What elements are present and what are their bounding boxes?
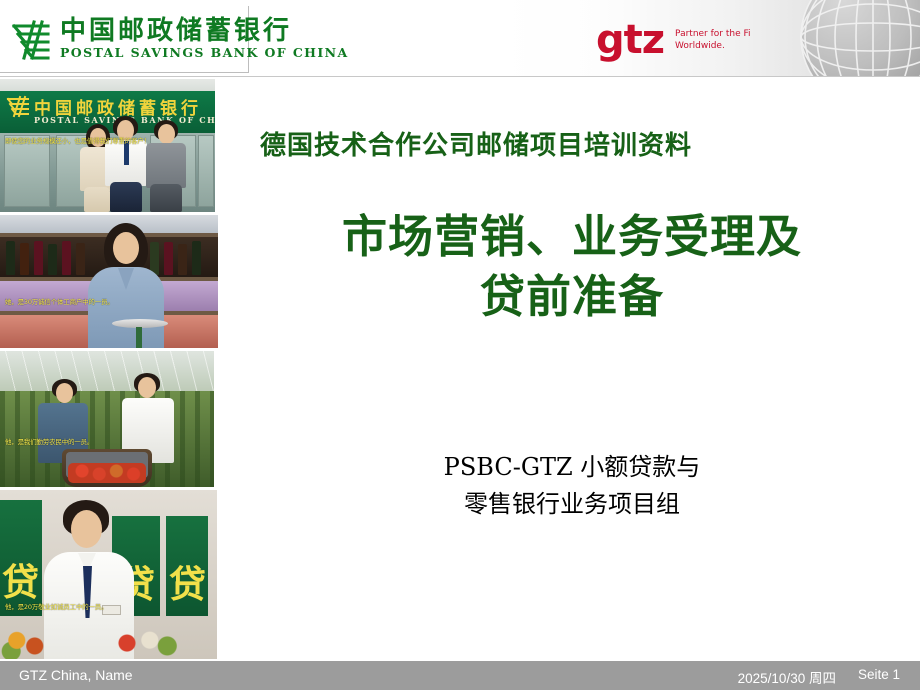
footer-meta: 2025/10/30 周四 Seite 1	[738, 667, 900, 687]
photo2-caption: 她，是30万诚信个体工商户中的一员。	[5, 298, 206, 306]
footer-date: 2025/10/30 周四	[738, 667, 836, 687]
photo1-door	[198, 135, 214, 207]
photo4-banner-char: 贷	[169, 554, 206, 608]
psbc-logo: 中国邮政储蓄银行 POSTAL SAVINGS BANK OF CHINA	[0, 6, 249, 73]
gtz-wordmark: gtz	[596, 22, 664, 58]
gtz-logo: gtz Partner for the Fi Worldwide.	[596, 22, 751, 58]
psbc-chinese-name: 中国邮政储蓄银行	[60, 18, 349, 44]
slide-title-line-1: 市场营销、业务受理及	[252, 207, 892, 267]
slide-title-line-2: 贷前准备	[252, 267, 892, 327]
photo3-tomatoes	[68, 463, 146, 483]
photo4-flowers-left	[0, 628, 56, 659]
slide-content: 德国技术合作公司邮储项目培训资料 市场营销、业务受理及 贷前准备 PSBC-GT…	[222, 79, 920, 659]
gtz-tagline: Partner for the Fi Worldwide.	[675, 28, 750, 52]
photo1-caption: 即使您的业务规模还小，也是值得我们尊重的客户！	[5, 137, 203, 145]
photo3-caption: 他，是我们勤劳农民中的一员。	[5, 438, 202, 446]
psbc-wordmark-group: 中国邮政储蓄银行 POSTAL SAVINGS BANK OF CHINA	[60, 18, 349, 60]
photo4-loan-banner: 贷	[0, 500, 42, 616]
psbc-emblem-icon	[8, 17, 54, 61]
globe-grid-icon	[798, 0, 920, 77]
gtz-tagline-line-2: Worldwide.	[675, 40, 750, 52]
photo1-door	[4, 135, 50, 207]
project-team-line-2: 零售银行业务项目组	[252, 486, 892, 523]
slide-title: 市场营销、业务受理及 贷前准备	[252, 207, 892, 327]
photo4-banner-char: 贷	[2, 552, 39, 606]
psbc-english-name: POSTAL SAVINGS BANK OF CHINA	[60, 47, 349, 60]
slide-subtitle: 德国技术合作公司邮储项目培训资料	[260, 125, 880, 162]
photo4-caption: 他，是20万敬业如诚员工中的一员。	[5, 603, 205, 611]
project-team-block: PSBC-GTZ 小额贷款与 零售银行业务项目组	[252, 449, 892, 523]
psbc-branch-group-photo: 中国邮政储蓄银行 POSTAL SAVINGS BANK OF CHINA	[0, 79, 215, 212]
greenhouse-farmers-photo: 他，是我们勤劳农民中的一员。	[0, 351, 214, 487]
slide-footer: GTZ China, Name 2025/10/30 周四 Seite 1	[0, 661, 920, 690]
photo2-scale-post	[136, 327, 142, 348]
project-team-line-1: PSBC-GTZ 小额贷款与	[252, 449, 892, 486]
footer-page-number: Seite 1	[858, 667, 900, 687]
bank-clerk-photo: 贷 贷 贷 他，是20万敬业如诚员工中的一员。	[0, 490, 217, 659]
photo-strip: 中国邮政储蓄银行 POSTAL SAVINGS BANK OF CHINA	[0, 79, 222, 659]
photo4-flowers-right	[108, 630, 184, 659]
photo1-psbc-emblem-icon	[5, 94, 31, 119]
footer-author: GTZ China, Name	[19, 667, 133, 683]
photo4-loan-banner: 贷	[166, 516, 208, 616]
gtz-tagline-line-1: Partner for the Fi	[675, 28, 750, 40]
shopkeeper-photo: 她，是30万诚信个体工商户中的一员。	[0, 215, 218, 348]
slide-header: 中国邮政储蓄银行 POSTAL SAVINGS BANK OF CHINA gt…	[0, 0, 920, 77]
